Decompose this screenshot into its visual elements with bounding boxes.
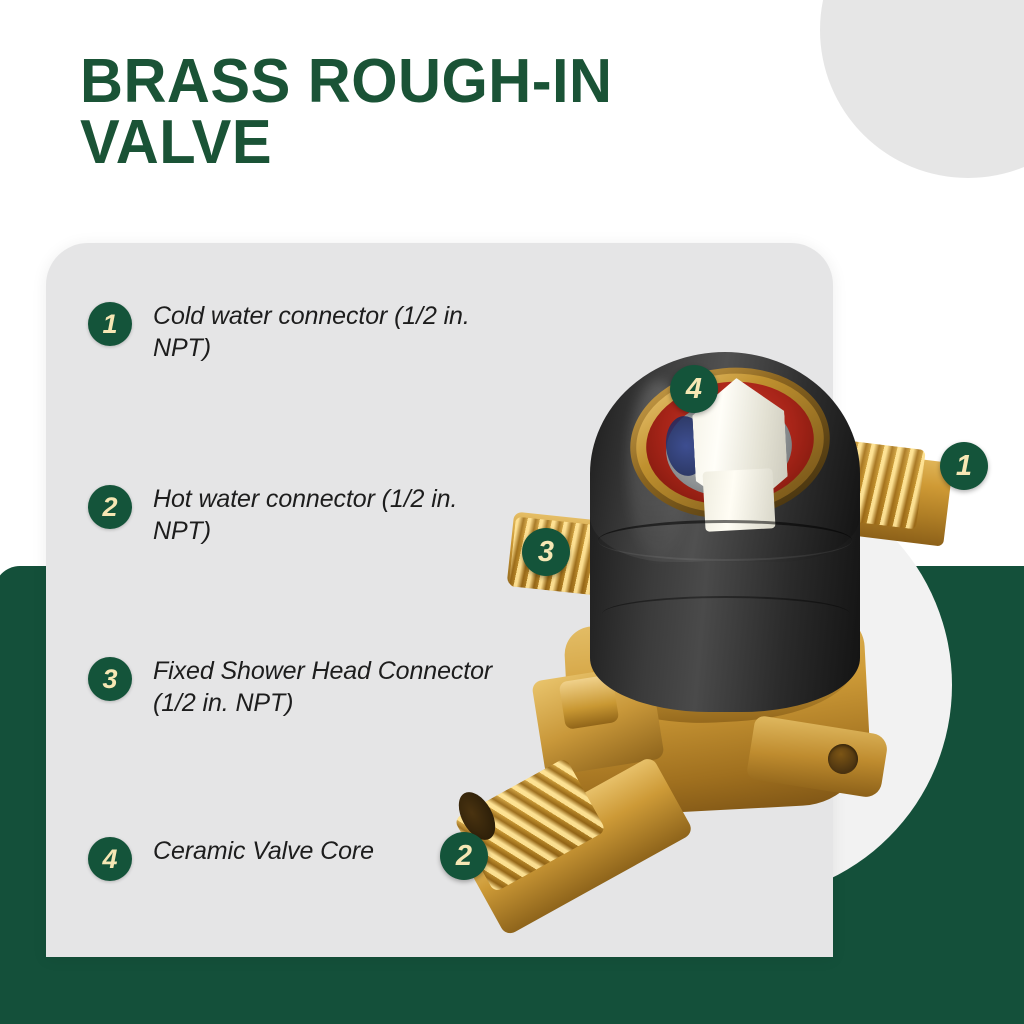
cap-seam-lower — [602, 596, 850, 632]
photo-callout-3: 3 — [522, 528, 570, 576]
top-right-decorative-circle — [820, 0, 1024, 178]
photo-callout-2: 2 — [440, 832, 488, 880]
legend-badge-1: 1 — [88, 302, 132, 346]
legend-badge-4: 4 — [88, 837, 132, 881]
page-title: BRASS ROUGH-IN VALVE — [80, 52, 694, 174]
legend-badge-2: 2 — [88, 485, 132, 529]
list-item: 2 Hot water connector (1/2 in. NPT) — [88, 483, 508, 547]
infographic-page: BRASS ROUGH-IN VALVE 1 Cold water connec… — [0, 0, 1024, 1024]
legend-label-4: Ceramic Valve Core — [153, 835, 374, 867]
photo-callout-1: 1 — [940, 442, 988, 490]
legend-badge-3: 3 — [88, 657, 132, 701]
list-item: 3 Fixed Shower Head Connector (1/2 in. N… — [88, 655, 508, 719]
photo-callout-4: 4 — [670, 365, 718, 413]
product-image-brass-rough-in-valve — [450, 320, 1024, 940]
cap-seam-upper — [598, 520, 852, 561]
list-item: 1 Cold water connector (1/2 in. NPT) — [88, 300, 508, 364]
